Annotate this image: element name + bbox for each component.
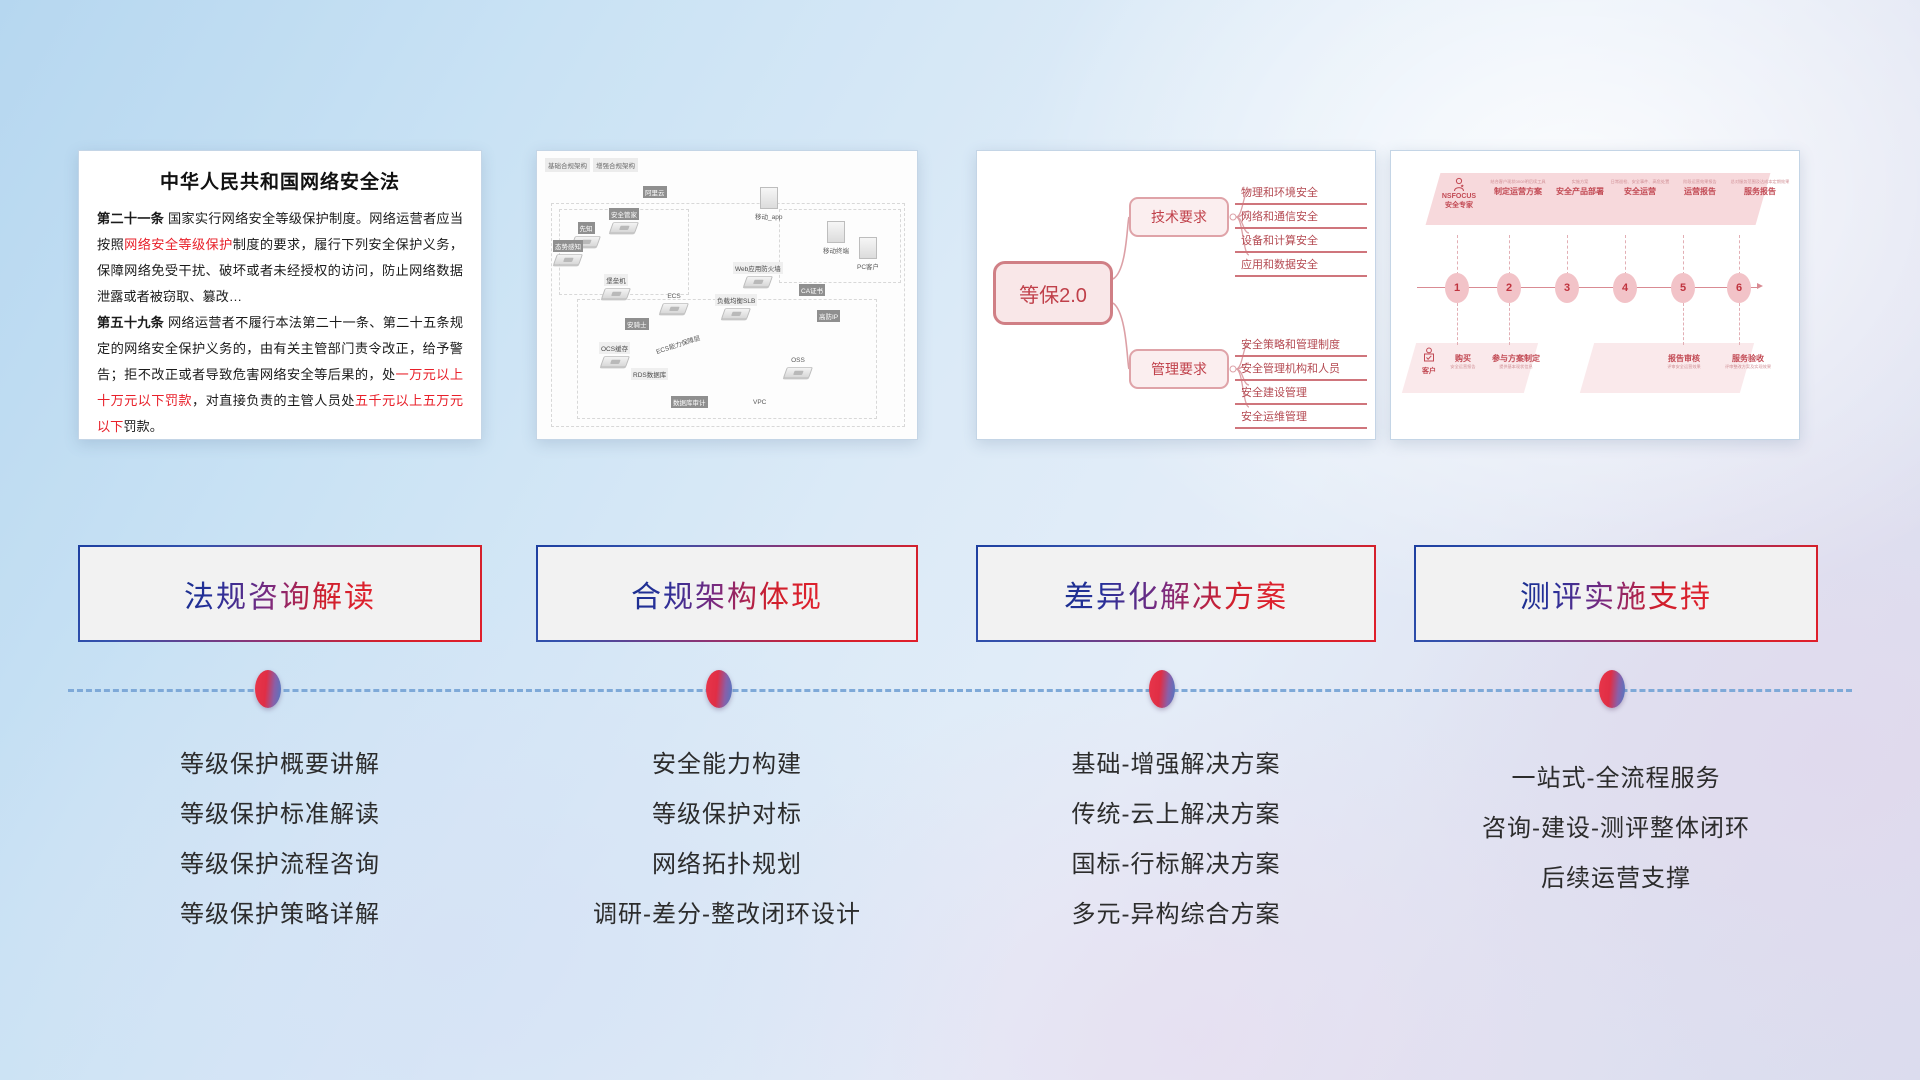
section-list-row: 等级保护概要讲解 等级保护标准解读 等级保护流程咨询 等级保护策略详解 安全能力… — [0, 740, 1920, 980]
server-chip-icon — [601, 288, 631, 299]
law-text-card[interactable]: 中华人民共和国网络安全法 第二十一条 国家实行网络安全等级保护制度。网络运营者应… — [78, 150, 482, 440]
list-item: 基础-增强解决方案 — [976, 740, 1376, 790]
section-list-2: 安全能力构建 等级保护对标 网络拓扑规划 调研-差分-整改闭环设计 — [536, 740, 918, 940]
expert-step-sub: 阶段运营效果报告 — [1669, 179, 1731, 185]
article-59-text-c: 罚款。 — [123, 419, 163, 434]
timeline-tick — [1683, 303, 1684, 345]
timeline-marker-1[interactable] — [255, 670, 281, 708]
arch-node-ecs-capability-layer: ECS能力保障层 — [653, 337, 703, 350]
customer-step-sub: 安全运营报告 — [1443, 364, 1483, 370]
expert-step-title: 安全产品部署 — [1549, 186, 1611, 197]
arch-tag-basic: 基础合规架构 — [545, 158, 590, 172]
expert-step-sub: 日常巡检、安全事件、高危处置 — [1609, 179, 1671, 185]
arch-node-rds: RDS数据库 — [631, 367, 668, 380]
list-item: 等级保护策略详解 — [78, 890, 482, 940]
arch-node-label: 安骑士 — [625, 318, 649, 330]
mindmap-leaf[interactable]: 物理和环境安全 — [1235, 181, 1367, 205]
arch-node-mobile-terminal: 移动终端 — [821, 221, 851, 256]
mindmap-canvas: 等保2.0 技术要求 物理和环境安全 网络和通信安全 设备和计算安全 应用和数据… — [977, 151, 1375, 439]
arch-node-label: PC客户 — [855, 260, 881, 272]
arch-node-bastion: 堡垒机 — [603, 273, 629, 301]
mindmap-leaf[interactable]: 安全建设管理 — [1235, 381, 1367, 405]
list-item: 调研-差分-整改闭环设计 — [536, 890, 918, 940]
arch-node-label: 移动_app — [753, 210, 784, 222]
customer-step-acceptance: 服务验收 评审整改方案及实现效果 — [1715, 353, 1781, 371]
list-item: 国标-行标解决方案 — [976, 840, 1376, 890]
arch-node-label: 移动终端 — [821, 244, 851, 256]
expert-step-title: 运营报告 — [1669, 186, 1731, 197]
arch-node-label: 堡垒机 — [604, 274, 628, 286]
timeline-tick — [1739, 235, 1740, 275]
law-article-21: 第二十一条 国家实行网络安全等级保护制度。网络运营者应当按照网络安全等级保护制度… — [97, 206, 463, 310]
arch-node-slb: 负载均衡SLB — [715, 293, 757, 321]
law-card-body: 中华人民共和国网络安全法 第二十一条 国家实行网络安全等级保护制度。网络运营者应… — [79, 151, 481, 439]
arch-node-db-audit: 数据库审计 — [671, 395, 708, 408]
arch-node-label: 先知 — [578, 222, 595, 234]
customer-step-title: 服务验收 — [1715, 353, 1781, 364]
list-item: 网络拓扑规划 — [536, 840, 918, 890]
arch-node-ecs: ECS — [661, 291, 687, 316]
arch-node-label: 负载均衡SLB — [715, 294, 757, 306]
expert-step-4: 日常巡检、安全事件、高危处置 安全运营 — [1609, 179, 1671, 197]
timeline-step-dot[interactable]: 5 — [1671, 273, 1695, 303]
arch-tag-enhanced: 增强合规架构 — [593, 158, 638, 172]
device-icon — [760, 187, 778, 209]
server-chip-icon — [721, 308, 751, 319]
mindmap-leaf[interactable]: 安全管理机构和人员 — [1235, 357, 1367, 381]
service-timeline-card[interactable]: NSFOCUS 安全专家 结合客户现状once明后续工具 制定运营方案 实施方案… — [1390, 150, 1800, 440]
image-card-row: 中华人民共和国网络安全法 第二十一条 国家实行网络安全等级保护制度。网络运营者应… — [0, 150, 1920, 450]
progress-timeline — [0, 665, 1920, 715]
list-item: 等级保护流程咨询 — [78, 840, 482, 890]
timeline-arrow-icon — [1757, 283, 1763, 289]
section-title-label: 合规架构体现 — [631, 572, 823, 616]
expert-step-title: 制定运营方案 — [1487, 186, 1549, 197]
timeline-tick — [1683, 235, 1684, 275]
mindmap-branch-technical[interactable]: 技术要求 — [1129, 197, 1229, 237]
expert-step-5: 阶段运营效果报告 运营报告 — [1669, 179, 1731, 197]
mindmap-leaf[interactable]: 应用和数据安全 — [1235, 253, 1367, 277]
law-card-title: 中华人民共和国网络安全法 — [97, 167, 463, 194]
expert-step-6: 总对服务范围及达成本定期效果 服务报告 — [1727, 179, 1793, 197]
mindmap-leaf[interactable]: 安全策略和管理制度 — [1235, 333, 1367, 357]
list-item: 等级保护概要讲解 — [78, 740, 482, 790]
customer-step-sub: 提供基本现状信息 — [1485, 364, 1547, 370]
section-title-row: 法规咨询解读 合规架构体现 差异化解决方案 测评实施支持 — [0, 545, 1920, 645]
timeline-step-dot[interactable]: 3 — [1555, 273, 1579, 303]
timeline-marker-2[interactable] — [706, 670, 732, 708]
timeline-tick — [1509, 303, 1510, 345]
arch-node-anqishi: 安骑士 — [625, 317, 649, 330]
arch-node-label: 阿里云 — [643, 186, 667, 198]
section-title-box-1[interactable]: 法规咨询解读 — [78, 545, 482, 642]
timeline-dashed-line — [68, 689, 1852, 692]
timeline-tick — [1457, 303, 1458, 345]
list-item: 多元-异构综合方案 — [976, 890, 1376, 940]
list-item: 安全能力构建 — [536, 740, 918, 790]
expert-step-sub: 实施方案 — [1549, 179, 1611, 185]
mindmap-leaves-management: 安全策略和管理制度 安全管理机构和人员 安全建设管理 安全运维管理 — [1235, 333, 1367, 429]
list-item: 一站式-全流程服务 — [1414, 754, 1818, 804]
arch-node-oss: OSS — [785, 355, 811, 380]
timeline-tick — [1739, 303, 1740, 345]
timeline-step-dot[interactable]: 1 — [1445, 273, 1469, 303]
customer-step-sub: 评审安全运营效果 — [1655, 364, 1713, 370]
arch-node-mobile-app: 移动_app — [753, 187, 784, 222]
section-title-label: 法规咨询解读 — [184, 572, 376, 616]
section-list-1: 等级保护概要讲解 等级保护标准解读 等级保护流程咨询 等级保护策略详解 — [78, 740, 482, 940]
timeline-tick — [1625, 235, 1626, 275]
section-title-label: 差异化解决方案 — [1064, 572, 1288, 616]
expert-step-3: 实施方案 安全产品部署 — [1549, 179, 1611, 197]
section-list-4: 一站式-全流程服务 咨询-建设-测评整体闭环 后续运营支撑 — [1414, 754, 1818, 904]
expert-persona: NSFOCUS 安全专家 — [1431, 177, 1487, 210]
server-chip-icon — [783, 367, 813, 378]
customer-step-title: 报告审核 — [1655, 353, 1713, 364]
article-21-highlight: 网络安全等级保护 — [124, 237, 233, 252]
timeline-step-dot[interactable]: 4 — [1613, 273, 1637, 303]
arch-node-label: OSS — [789, 356, 807, 365]
list-item: 等级保护对标 — [536, 790, 918, 840]
architecture-diagram-card[interactable]: 基础合规架构 增强合规架构 阿里云 安全管家 先知 态势感知 堡垒机 安骑士 E… — [536, 150, 918, 440]
customer-step-title: 购买 — [1443, 353, 1483, 364]
device-icon — [827, 221, 845, 243]
expert-step-title: 服务报告 — [1727, 186, 1793, 197]
article-21-label: 第二十一条 — [97, 211, 164, 226]
arch-node-label: Web应用防火墙 — [733, 262, 783, 274]
arch-node-situational-awareness: 态势感知 — [553, 239, 583, 267]
service-timeline-canvas: NSFOCUS 安全专家 结合客户现状once明后续工具 制定运营方案 实施方案… — [1391, 151, 1799, 439]
arch-node-waf: Web应用防火墙 — [733, 261, 783, 289]
arch-node-anti-ddos-ip: 高防IP — [817, 309, 840, 322]
arch-node-label: 数据库审计 — [671, 396, 708, 408]
article-59-text-b: ，对直接负责的主管人员处 — [192, 393, 355, 408]
architecture-canvas: 基础合规架构 增强合规架构 阿里云 安全管家 先知 态势感知 堡垒机 安骑士 E… — [537, 151, 917, 439]
arch-node-label: CA证书 — [799, 284, 825, 296]
section-title-box-3[interactable]: 差异化解决方案 — [976, 545, 1376, 642]
architecture-tag-row: 基础合规架构 增强合规架构 — [545, 158, 638, 172]
timeline-tick — [1457, 235, 1458, 275]
mindmap-leaves-technical: 物理和环境安全 网络和通信安全 设备和计算安全 应用和数据安全 — [1235, 181, 1367, 277]
timeline-marker-3[interactable] — [1149, 670, 1175, 708]
timeline-tick — [1509, 235, 1510, 275]
arch-node-label: OCS缓存 — [599, 342, 630, 354]
server-chip-icon — [659, 303, 689, 314]
article-59-label: 第五十九条 — [97, 315, 164, 330]
arch-node-aliyun: 阿里云 — [643, 185, 667, 198]
arch-node-pc-client: PC客户 — [855, 237, 881, 272]
mindmap-card[interactable]: 等保2.0 技术要求 物理和环境安全 网络和通信安全 设备和计算安全 应用和数据… — [976, 150, 1376, 440]
section-title-box-4[interactable]: 测评实施支持 — [1414, 545, 1818, 642]
mindmap-leaf[interactable]: 安全运维管理 — [1235, 405, 1367, 429]
arch-node-label: 高防IP — [817, 310, 840, 322]
server-chip-icon — [609, 222, 639, 233]
timeline-step-dot[interactable]: 2 — [1497, 273, 1521, 303]
section-title-box-2[interactable]: 合规架构体现 — [536, 545, 918, 642]
expert-label-line2: 安全专家 — [1431, 200, 1487, 210]
expert-step-sub: 总对服务范围及达成本定期效果 — [1727, 179, 1793, 185]
server-chip-icon — [600, 356, 630, 367]
expert-step-sub: 结合客户现状once明后续工具 — [1487, 179, 1549, 185]
customer-step-purchase: 购买 安全运营报告 — [1443, 353, 1483, 371]
law-article-59: 第五十九条 网络运营者不履行本法第二十一条、第二十五条规定的网络安全保护义务的，… — [97, 310, 463, 440]
section-list-3: 基础-增强解决方案 传统-云上解决方案 国标-行标解决方案 多元-异构综合方案 — [976, 740, 1376, 940]
arch-node-label: VPC — [751, 398, 768, 407]
customer-person-icon — [1422, 347, 1436, 365]
list-item: 咨询-建设-测评整体闭环 — [1414, 804, 1818, 854]
customer-step-review: 报告审核 评审安全运营效果 — [1655, 353, 1713, 371]
timeline-tick — [1567, 235, 1568, 275]
arch-node-ca-cert: CA证书 — [799, 283, 825, 296]
expert-step-2: 结合客户现状once明后续工具 制定运营方案 — [1487, 179, 1549, 197]
server-chip-icon — [743, 276, 773, 287]
server-chip-icon — [553, 254, 583, 265]
arch-node-label: 态势感知 — [553, 240, 583, 252]
timeline-step-dot[interactable]: 6 — [1727, 273, 1751, 303]
arch-node-vpc: VPC — [751, 397, 768, 407]
device-icon — [859, 237, 877, 259]
list-item: 传统-云上解决方案 — [976, 790, 1376, 840]
mindmap-branch-management[interactable]: 管理要求 — [1129, 349, 1229, 389]
expert-step-title: 安全运营 — [1609, 186, 1671, 197]
arch-node-label: ECS — [665, 292, 682, 301]
arch-node-safety-butler: 安全管家 — [609, 207, 639, 235]
arch-node-label: RDS数据库 — [631, 368, 668, 380]
expert-person-icon — [1451, 177, 1467, 193]
customer-step-title: 参与方案制定 — [1485, 353, 1547, 364]
list-item: 等级保护标准解读 — [78, 790, 482, 840]
timeline-marker-4[interactable] — [1599, 670, 1625, 708]
arch-node-ocs-cache: OCS缓存 — [599, 341, 630, 369]
customer-step-sub: 评审整改方案及实现效果 — [1715, 364, 1781, 370]
section-title-label: 测评实施支持 — [1520, 572, 1712, 616]
customer-step-participate: 参与方案制定 提供基本现状信息 — [1485, 353, 1547, 371]
mindmap-leaf[interactable]: 网络和通信安全 — [1235, 205, 1367, 229]
arch-node-label: 安全管家 — [609, 208, 639, 220]
list-item: 后续运营支撑 — [1414, 854, 1818, 904]
mindmap-root-node[interactable]: 等保2.0 — [993, 261, 1113, 325]
mindmap-leaf[interactable]: 设备和计算安全 — [1235, 229, 1367, 253]
expert-label-line1: NSFOCUS — [1431, 193, 1487, 200]
